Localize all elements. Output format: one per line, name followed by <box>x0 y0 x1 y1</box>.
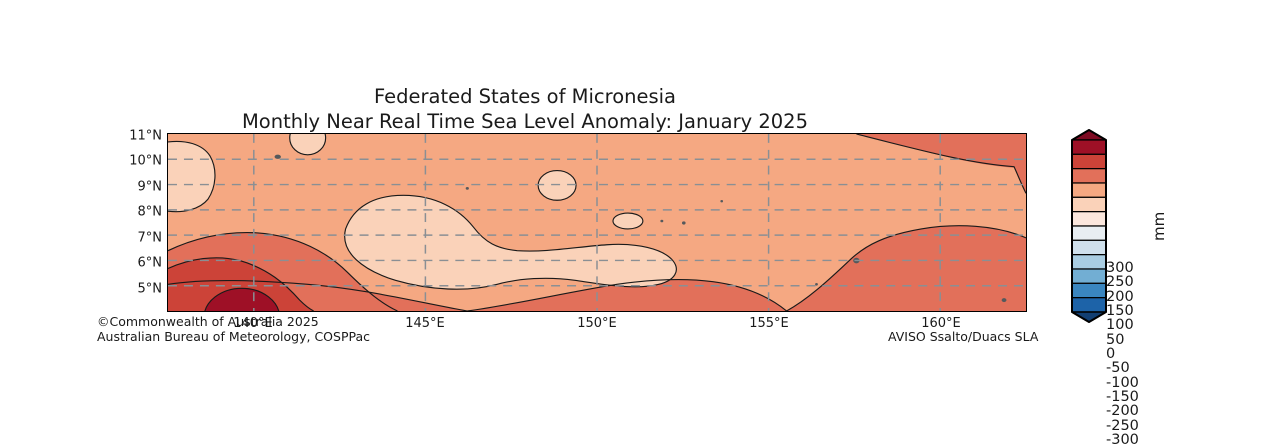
colorbar-over-arrow <box>1072 130 1106 140</box>
colorbar-under-arrow <box>1072 312 1106 322</box>
cbtick-m300: -300 <box>1106 432 1139 448</box>
xtick-label-150E: 150°E <box>577 316 617 331</box>
xtick-label-145E: 145°E <box>405 316 445 331</box>
cbtick-m50: -50 <box>1106 360 1130 376</box>
copyright-credit: ©Commonwealth of Australia 2025 Australi… <box>97 314 370 344</box>
colorbar-unit-label: mm <box>1148 196 1170 256</box>
cbtick-100: 100 <box>1106 317 1134 333</box>
data-source-credit: AVISO Ssalto/Duacs SLA <box>888 329 1038 344</box>
copyright-line-2: Australian Bureau of Meteorology, COSPPa… <box>97 329 370 344</box>
colorbar-bands <box>1072 140 1106 312</box>
copyright-line-1: ©Commonwealth of Australia 2025 <box>97 314 370 329</box>
cbtick-250: 250 <box>1106 274 1134 290</box>
cbtick-m200: -200 <box>1106 403 1139 419</box>
xtick-label-155E: 155°E <box>749 316 789 331</box>
